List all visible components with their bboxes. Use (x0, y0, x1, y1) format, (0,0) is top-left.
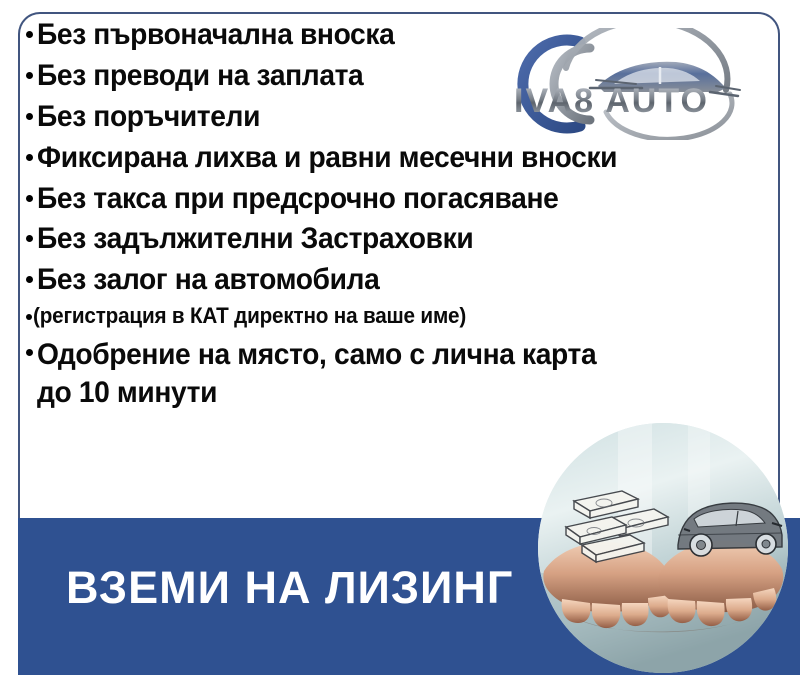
logo-text: IVA8 AUTO (514, 82, 709, 120)
bullet-dot-icon (26, 154, 33, 161)
bullet-dot-icon (26, 314, 32, 320)
cta-headline: ВЗЕМИ НА ЛИЗИНГ (66, 565, 513, 610)
bullet-dot-icon (26, 276, 33, 283)
leasing-advertisement: Без първоначална вноска Без преводи на з… (0, 0, 800, 698)
list-item-label: Фиксирана лихва и равни месечни вноски (37, 141, 712, 175)
list-item-label: Без залог на автомобила (37, 263, 712, 297)
list-item: Без залог на автомобила (10, 263, 755, 297)
list-item: Без задължителни Застраховки (10, 222, 755, 256)
list-item-label: (регистрация в КАТ директно на ваше име) (33, 304, 712, 329)
list-item: Одобрение на място, само с лична карта д… (10, 336, 755, 411)
list-item: Фиксирана лихва и равни месечни вноски (10, 141, 755, 175)
bullet-dot-icon (26, 195, 33, 202)
bullet-dot-icon (26, 349, 33, 356)
hands-money-car-photo (538, 423, 788, 673)
list-item-note: (регистрация в КАТ директно на ваше име) (10, 304, 755, 329)
bullet-dot-icon (26, 235, 33, 242)
iva8-auto-logo: IVA8 AUTO (494, 28, 754, 140)
list-item-label: Одобрение на място, само с лична карта д… (37, 336, 712, 411)
list-item-label: Без такса при предсрочно погасяване (37, 182, 712, 216)
bullet-dot-icon (26, 72, 33, 79)
list-item-label: Без задължителни Застраховки (37, 222, 712, 256)
bullet-dot-icon (26, 31, 33, 38)
list-item: Без такса при предсрочно погасяване (10, 182, 755, 216)
bullet-dot-icon (26, 113, 33, 120)
